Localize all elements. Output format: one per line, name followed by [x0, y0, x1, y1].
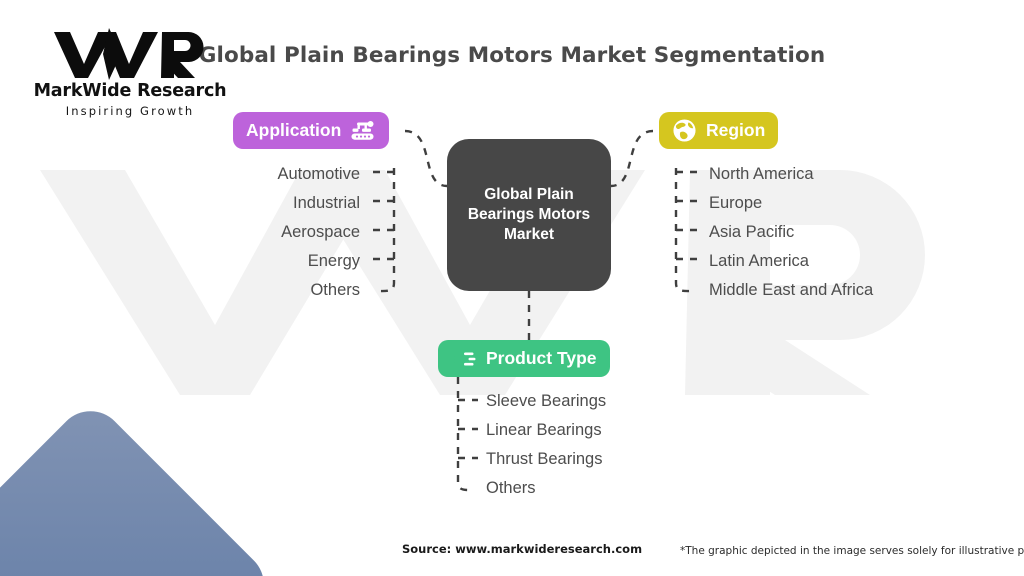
branch-badge-region[interactable]: Region [659, 112, 778, 149]
globe-icon [672, 118, 697, 143]
brand-name: MarkWide Research [30, 81, 230, 101]
branch-badge-product-type-label: Product Type [486, 348, 597, 369]
list-item: Energy [160, 247, 360, 276]
brand-logo: MarkWide Research Inspiring Growth [30, 28, 230, 118]
plug-connector-icon [451, 347, 477, 371]
center-node-label: Global Plain Bearings Motors Market [464, 185, 594, 245]
branch-items-region: North America Europe Asia Pacific Latin … [709, 160, 1009, 305]
infographic-canvas: MarkWide Research Inspiring Growth Globa… [0, 0, 1024, 576]
center-node: Global Plain Bearings Motors Market [447, 139, 611, 291]
branch-badge-application[interactable]: Application [233, 112, 389, 149]
list-item: North America [709, 160, 1009, 189]
mwr-monogram-icon [53, 28, 208, 80]
list-item: Thrust Bearings [486, 445, 786, 474]
brand-tagline: Inspiring Growth [30, 104, 230, 118]
branch-badge-application-label: Application [246, 120, 341, 141]
industrial-robot-icon [350, 119, 376, 143]
branch-items-application: Automotive Industrial Aerospace Energy O… [160, 160, 360, 305]
disclaimer-note: *The graphic depicted in the image serve… [680, 545, 1024, 557]
list-item: Middle East and Africa [709, 276, 1009, 305]
list-item: Industrial [160, 189, 360, 218]
list-item: Europe [709, 189, 1009, 218]
branch-items-product-type: Sleeve Bearings Linear Bearings Thrust B… [486, 387, 786, 503]
list-item: Automotive [160, 160, 360, 189]
list-item: Linear Bearings [486, 416, 786, 445]
source-note: Source: www.markwideresearch.com [402, 542, 642, 556]
list-item: Others [160, 276, 360, 305]
list-item: Sleeve Bearings [486, 387, 786, 416]
branch-badge-product-type[interactable]: Product Type [438, 340, 610, 377]
decorative-diamond-shape [0, 397, 278, 576]
list-item: Latin America [709, 247, 1009, 276]
list-item: Others [486, 474, 786, 503]
list-item: Aerospace [160, 218, 360, 247]
branch-badge-region-label: Region [706, 120, 765, 141]
list-item: Asia Pacific [709, 218, 1009, 247]
